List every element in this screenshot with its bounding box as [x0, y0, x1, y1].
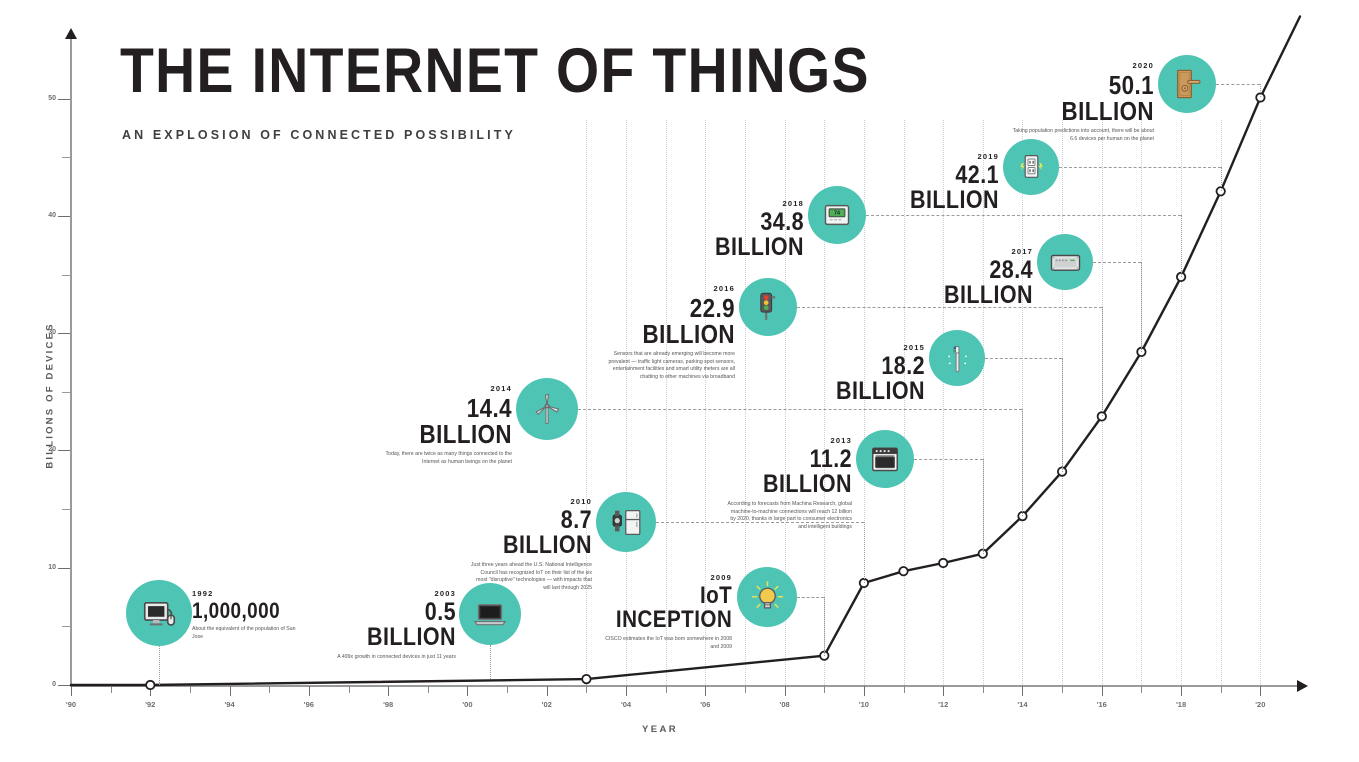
leader-line — [578, 409, 1022, 410]
callout-year-2013: 2013 — [831, 436, 853, 445]
callout-description-2020: Taking population predictions into accou… — [1012, 128, 1154, 143]
leader-line — [1260, 84, 1261, 97]
callout-description-2013: According to forecasts from Machina Rese… — [724, 501, 852, 531]
x-tick — [388, 686, 389, 696]
y-tick-label: 50 — [16, 95, 56, 102]
x-tick-label: '94 — [215, 700, 245, 709]
thermostat-icon: 74 — [819, 197, 855, 233]
callout-value-2016: 22.9 BILLION — [616, 295, 735, 347]
y-tick — [62, 509, 70, 510]
x-axis — [70, 685, 1303, 687]
callout-2017: 201728.4 BILLION — [910, 247, 1033, 308]
callout-year-2018: 2018 — [783, 199, 805, 208]
callout-year-2020: 2020 — [1133, 61, 1155, 70]
x-tick-label: '10 — [849, 700, 879, 709]
x-tick — [269, 686, 270, 693]
y-axis-arrow-icon — [65, 28, 77, 39]
svg-text:74: 74 — [834, 211, 840, 217]
callout-description-2016: Sensors that are already emerging will b… — [597, 351, 735, 381]
x-tick-label: '04 — [611, 700, 641, 709]
callout-value-1992: 1,000,000 — [192, 600, 280, 622]
y-tick — [62, 275, 70, 276]
x-tick — [547, 686, 548, 696]
callout-year-2017: 2017 — [1012, 247, 1034, 256]
callout-2003: 20030.5 BILLIONA 499x growth in connecte… — [330, 589, 456, 662]
callout-value-2014: 14.4 BILLION — [394, 395, 512, 447]
y-tick — [62, 157, 70, 158]
x-tick — [785, 686, 786, 696]
toothbrush-icon — [940, 341, 975, 376]
leader-line — [864, 522, 865, 583]
x-tick — [1181, 686, 1182, 696]
x-tick — [1141, 686, 1142, 693]
laptop-icon — [471, 595, 509, 633]
x-tick-label: '08 — [770, 700, 800, 709]
x-tick-label: '14 — [1007, 700, 1037, 709]
gridline — [1141, 120, 1143, 685]
gridline — [586, 120, 588, 685]
x-tick — [1062, 686, 1063, 693]
callout-2014: 201414.4 BILLIONToday, there are twice a… — [375, 384, 512, 466]
callout-description-2003: A 499x growth in connected devices in ju… — [337, 654, 456, 662]
callout-value-2010: 8.7 BILLION — [485, 508, 592, 558]
callout-year-2019: 2019 — [978, 152, 1000, 161]
callout-year-1992: 1992 — [192, 589, 214, 598]
x-tick — [705, 686, 706, 696]
leader-line — [1062, 358, 1063, 472]
leader-line — [1141, 262, 1142, 352]
callout-2010: 20108.7 BILLIONJust three years ahead th… — [468, 497, 592, 592]
leader-line — [1181, 215, 1182, 277]
x-tick-label: '98 — [373, 700, 403, 709]
callout-value-2009: IoT INCEPTION — [616, 584, 732, 632]
lightbulb-icon — [749, 579, 786, 616]
y-tick — [58, 685, 70, 686]
x-tick-label: '96 — [294, 700, 324, 709]
leader-line — [983, 459, 984, 554]
x-tick — [824, 686, 825, 693]
y-tick — [58, 99, 70, 100]
y-tick — [58, 333, 70, 334]
page-subtitle: AN EXPLOSION OF CONNECTED POSSIBILITY — [122, 128, 516, 142]
y-tick — [62, 392, 70, 393]
x-tick-label: '18 — [1166, 700, 1196, 709]
callout-icon-bubble-2013[interactable] — [856, 430, 914, 488]
callout-description-2010: Just three years ahead the U.S. National… — [468, 562, 592, 592]
callout-description-1992: About the equivalent of the population o… — [192, 626, 302, 641]
x-tick-label: '20 — [1245, 700, 1275, 709]
callout-icon-bubble-2018[interactable]: 74 — [808, 186, 866, 244]
x-tick — [586, 686, 587, 693]
leader-line — [1216, 84, 1260, 85]
leader-line — [1221, 167, 1222, 191]
callout-icon-bubble-2020[interactable] — [1158, 55, 1216, 113]
router-modem-icon — [1048, 245, 1083, 280]
x-tick — [943, 686, 944, 696]
y-tick-label: 0 — [16, 681, 56, 688]
callout-year-2003: 2003 — [435, 589, 457, 598]
x-tick-label: '00 — [452, 700, 482, 709]
x-tick-label: '06 — [690, 700, 720, 709]
oven-stove-icon — [867, 441, 903, 477]
callout-year-2009: 2009 — [711, 573, 733, 582]
page-title: THE INTERNET OF THINGS — [120, 38, 870, 104]
x-axis-label: YEAR — [642, 724, 678, 735]
callout-year-2014: 2014 — [491, 384, 513, 393]
x-tick — [150, 686, 151, 696]
x-tick — [626, 686, 627, 696]
callout-year-2015: 2015 — [904, 343, 926, 352]
callout-icon-bubble-2009[interactable] — [737, 567, 797, 627]
x-tick — [1260, 686, 1261, 696]
desktop-computer-mouse-icon — [139, 593, 180, 634]
callout-year-2010: 2010 — [571, 497, 593, 506]
x-tick-label: '02 — [532, 700, 562, 709]
callout-2013: 201311.2 BILLIONAccording to forecasts f… — [724, 436, 852, 531]
x-tick — [309, 686, 310, 696]
callout-description-2009: CISCO estimates the IoT was born somewhe… — [600, 636, 732, 651]
y-axis — [70, 38, 72, 686]
leader-line — [1102, 307, 1103, 416]
wind-turbine-icon — [528, 390, 566, 428]
callout-icon-bubble-2010[interactable] — [596, 492, 656, 552]
x-tick — [1022, 686, 1023, 696]
leader-line — [490, 645, 491, 679]
y-tick-label: 30 — [16, 329, 56, 336]
gridline — [1022, 120, 1024, 685]
x-tick — [1102, 686, 1103, 696]
callout-value-2003: 0.5 BILLION — [348, 600, 456, 650]
x-tick — [349, 686, 350, 693]
x-tick — [428, 686, 429, 693]
callout-icon-bubble-1992[interactable] — [126, 580, 192, 646]
callout-2015: 201518.2 BILLION — [800, 343, 925, 404]
callout-2019: 201942.1 BILLION — [876, 152, 999, 213]
gridline — [1221, 120, 1223, 685]
callout-description-2014: Today, there are twice as many things co… — [375, 451, 512, 466]
x-tick — [745, 686, 746, 693]
x-axis-arrow-icon — [1297, 680, 1308, 692]
callout-year-2016: 2016 — [714, 284, 736, 293]
x-tick — [507, 686, 508, 693]
callout-value-2013: 11.2 BILLION — [742, 447, 852, 497]
x-tick-label: '92 — [135, 700, 165, 709]
x-tick — [71, 686, 72, 696]
callout-value-2019: 42.1 BILLION — [893, 163, 999, 213]
callout-value-2020: 50.1 BILLION — [1032, 72, 1154, 124]
callout-2009: 2009IoT INCEPTIONCISCO estimates the IoT… — [600, 573, 732, 651]
leader-line — [824, 597, 825, 656]
x-tick — [190, 686, 191, 693]
leader-line — [1093, 262, 1141, 263]
callout-value-2018: 34.8 BILLION — [699, 210, 804, 260]
infographic-canvas: THE INTERNET OF THINGS AN EXPLOSION OF C… — [0, 0, 1359, 762]
x-tick — [111, 686, 112, 693]
y-tick-label: 20 — [16, 446, 56, 453]
x-tick — [983, 686, 984, 693]
leader-line — [866, 215, 1181, 216]
callout-icon-bubble-2014[interactable] — [516, 378, 578, 440]
callout-1992: 19921,000,000About the equivalent of the… — [192, 589, 302, 641]
y-tick — [58, 568, 70, 569]
x-tick-label: '90 — [56, 700, 86, 709]
x-tick-label: '16 — [1087, 700, 1117, 709]
leader-line — [914, 459, 983, 460]
leader-line — [1022, 409, 1023, 516]
x-tick-label: '12 — [928, 700, 958, 709]
leader-line — [1059, 167, 1221, 168]
y-tick — [58, 216, 70, 217]
y-tick-label: 40 — [16, 212, 56, 219]
gridline — [1260, 120, 1262, 685]
door-lock-icon — [1169, 66, 1205, 102]
y-tick-label: 10 — [16, 564, 56, 571]
callout-value-2015: 18.2 BILLION — [818, 354, 926, 404]
x-tick — [230, 686, 231, 696]
callout-2020: 202050.1 BILLIONTaking population predic… — [1012, 61, 1154, 143]
y-tick — [62, 626, 70, 627]
callout-icon-bubble-2016[interactable] — [739, 278, 797, 336]
leader-line — [159, 646, 160, 685]
callout-icon-bubble-2015[interactable] — [929, 330, 985, 386]
y-tick — [58, 450, 70, 451]
callout-2016: 201622.9 BILLIONSensors that are already… — [597, 284, 735, 381]
callout-icon-bubble-2017[interactable] — [1037, 234, 1093, 290]
leader-line — [985, 358, 1062, 359]
gridline — [1181, 120, 1183, 685]
callout-value-2017: 28.4 BILLION — [927, 258, 1033, 308]
callout-2018: 201834.8 BILLION — [682, 199, 804, 260]
callout-icon-bubble-2019[interactable] — [1003, 139, 1059, 195]
x-tick — [1221, 686, 1222, 693]
leader-line — [797, 597, 824, 598]
traffic-light-icon — [750, 289, 786, 325]
smart-outlet-icon — [1014, 150, 1049, 185]
x-tick — [864, 686, 865, 696]
x-tick — [904, 686, 905, 693]
smartwatch-refrigerator-icon — [608, 504, 645, 541]
x-tick — [666, 686, 667, 693]
x-tick — [467, 686, 468, 696]
